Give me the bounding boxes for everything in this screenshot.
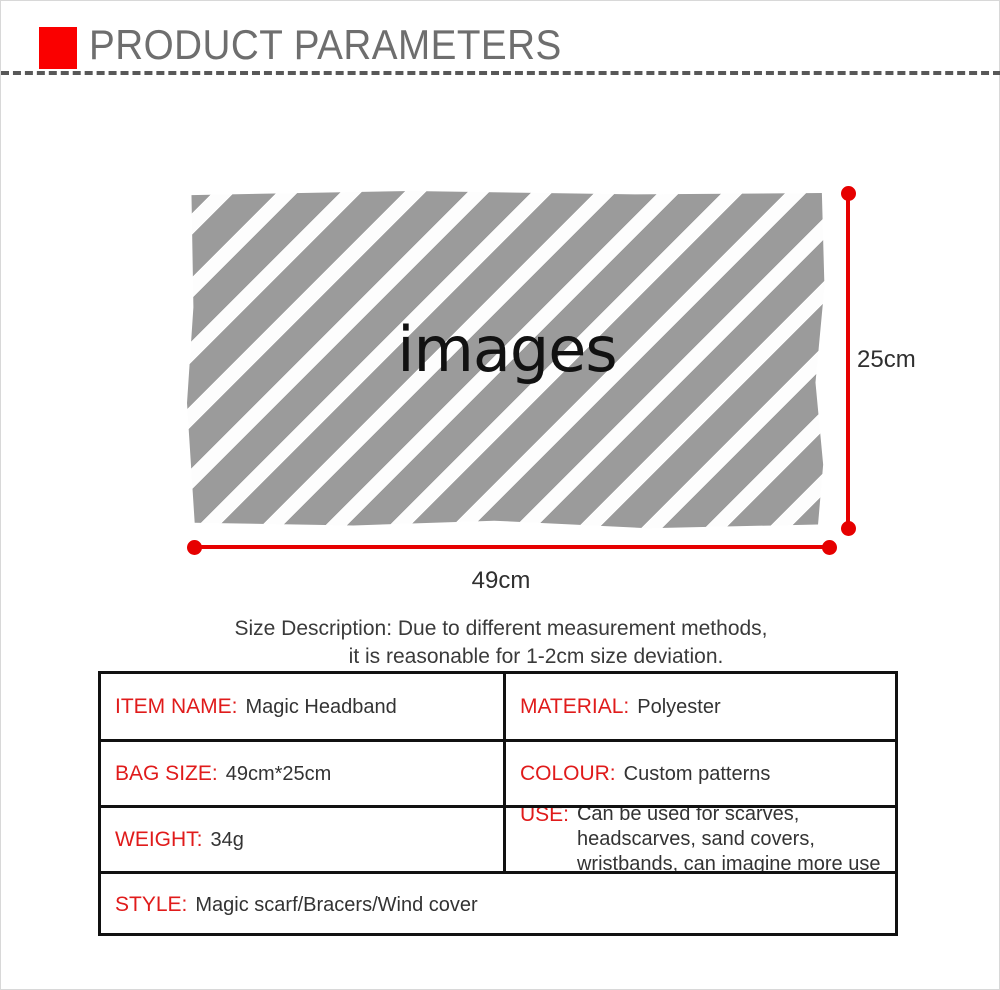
width-dimension-endpoint-right-icon	[822, 540, 837, 555]
spec-value-weight: 34g	[203, 827, 244, 853]
spec-table: ITEM NAME: Magic Headband MATERIAL: Poly…	[98, 671, 898, 936]
page-frame: PRODUCT PARAMETERS images 25cm 49cm Size…	[0, 0, 1000, 990]
page-title: PRODUCT PARAMETERS	[89, 19, 562, 71]
width-dimension-label: 49cm	[1, 567, 1000, 595]
spec-cell-material: MATERIAL: Polyester	[503, 674, 895, 739]
product-image: images	[187, 191, 827, 533]
size-description-line-2: it is reasonable for 1-2cm size deviatio…	[1, 643, 1000, 671]
header-dashed-divider	[1, 71, 1000, 75]
spec-cell-style: STYLE: Magic scarf/Bracers/Wind cover	[101, 874, 895, 936]
spec-label-style: STYLE:	[115, 892, 187, 918]
image-watermark: images	[187, 319, 827, 381]
spec-label-weight: WEIGHT:	[115, 827, 203, 853]
table-row: BAG SIZE: 49cm*25cm COLOUR: Custom patte…	[101, 739, 895, 805]
spec-value-item-name: Magic Headband	[238, 694, 397, 720]
header-red-square-icon	[39, 27, 77, 69]
spec-label-use: USE:	[520, 808, 569, 828]
spec-cell-item-name: ITEM NAME: Magic Headband	[101, 674, 503, 739]
spec-cell-use: USE: Can be used for scarves, headscarve…	[503, 808, 895, 871]
spec-label-colour: COLOUR:	[520, 761, 616, 787]
width-dimension-endpoint-left-icon	[187, 540, 202, 555]
spec-value-style: Magic scarf/Bracers/Wind cover	[187, 892, 477, 918]
height-dimension-endpoint-bottom-icon	[841, 521, 856, 536]
spec-value-bag-size: 49cm*25cm	[218, 761, 332, 787]
table-row: ITEM NAME: Magic Headband MATERIAL: Poly…	[101, 674, 895, 739]
table-row: STYLE: Magic scarf/Bracers/Wind cover	[101, 871, 895, 936]
table-row: WEIGHT: 34g USE: Can be used for scarves…	[101, 805, 895, 871]
section-header: PRODUCT PARAMETERS	[1, 1, 1000, 81]
height-dimension-label: 25cm	[857, 346, 916, 374]
spec-cell-bag-size: BAG SIZE: 49cm*25cm	[101, 742, 503, 805]
size-description: Size Description: Due to different measu…	[1, 615, 1000, 671]
spec-value-use: Can be used for scarves, headscarves, sa…	[569, 808, 895, 871]
spec-value-colour: Custom patterns	[616, 761, 771, 787]
spec-label-item-name: ITEM NAME:	[115, 694, 238, 720]
spec-cell-colour: COLOUR: Custom patterns	[503, 742, 895, 805]
spec-label-material: MATERIAL:	[520, 694, 629, 720]
height-dimension-line	[846, 193, 850, 529]
height-dimension-endpoint-top-icon	[841, 186, 856, 201]
spec-cell-weight: WEIGHT: 34g	[101, 808, 503, 871]
spec-value-material: Polyester	[629, 694, 720, 720]
size-description-line-1: Size Description: Due to different measu…	[234, 617, 767, 640]
width-dimension-line	[193, 545, 830, 549]
spec-label-bag-size: BAG SIZE:	[115, 761, 218, 787]
